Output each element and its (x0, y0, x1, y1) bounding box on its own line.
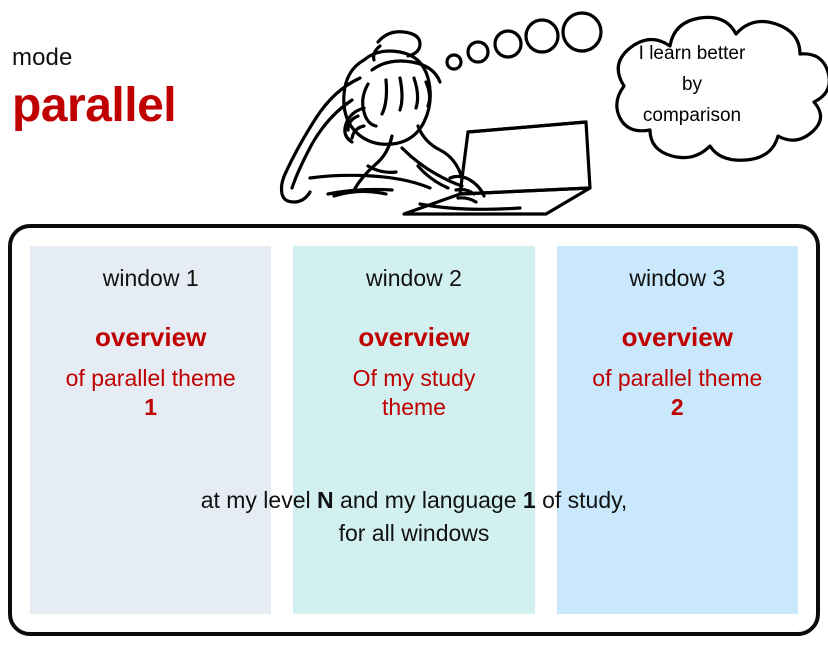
windows-frame: window 1 overview of parallel theme 1 wi… (8, 224, 820, 636)
thought-bubble-line-2: by (592, 69, 792, 100)
window-panel-1[interactable]: window 1 overview of parallel theme 1 (30, 246, 271, 614)
thought-dot-4 (526, 20, 558, 52)
laptop-screen-path (460, 122, 590, 194)
window-2-subtitle: Of my study theme (293, 364, 534, 422)
hair-side-path (363, 84, 376, 126)
window-1-sub-value: 1 (144, 394, 157, 420)
mode-label: mode (12, 44, 282, 72)
mode-header: mode parallel (12, 44, 282, 134)
hand-finger-2-path (458, 198, 476, 202)
window-3-title: window 3 (557, 264, 798, 292)
window-1-sub-prefix: of parallel theme (66, 365, 236, 391)
thought-bubble-line-1: I learn better (592, 38, 792, 69)
hair-strand-3-path (414, 78, 418, 108)
hair-strand-4-path (426, 82, 430, 106)
window-panel-2[interactable]: window 2 overview Of my study theme (293, 246, 534, 614)
thought-bubble-line-3: comparison (592, 100, 792, 131)
hair-strand-2-path (400, 78, 402, 110)
arm-left-path (310, 175, 430, 188)
thought-bubble-text: I learn better by comparison (592, 38, 792, 131)
window-1-title: window 1 (30, 264, 271, 292)
laptop-keyboard-path (420, 204, 520, 209)
window-1-overview: overview (30, 322, 271, 352)
window-panel-3[interactable]: window 3 overview of parallel theme 2 (557, 246, 798, 614)
mode-value: parallel (12, 78, 282, 134)
window-3-overview: overview (557, 322, 798, 352)
neck-shoulder-path (418, 126, 462, 178)
laptop-screen-top-path (468, 122, 586, 132)
hair-strand-1-path (382, 80, 387, 114)
window-2-overview: overview (293, 322, 534, 352)
window-3-subtitle: of parallel theme 2 (557, 364, 798, 422)
window-3-sub-prefix: of parallel theme (592, 365, 762, 391)
window-3-sub-value: 2 (671, 394, 684, 420)
window-2-title: window 2 (293, 264, 534, 292)
window-2-sub-value: theme (382, 394, 446, 420)
thought-dot-2 (468, 42, 488, 62)
window-1-subtitle: of parallel theme 1 (30, 364, 271, 422)
windows-panels-row: window 1 overview of parallel theme 1 wi… (30, 246, 798, 614)
window-2-sub-prefix: Of my study (353, 365, 476, 391)
thought-dot-3 (495, 31, 521, 57)
thought-dot-1 (447, 55, 461, 69)
collar-path (368, 166, 396, 172)
